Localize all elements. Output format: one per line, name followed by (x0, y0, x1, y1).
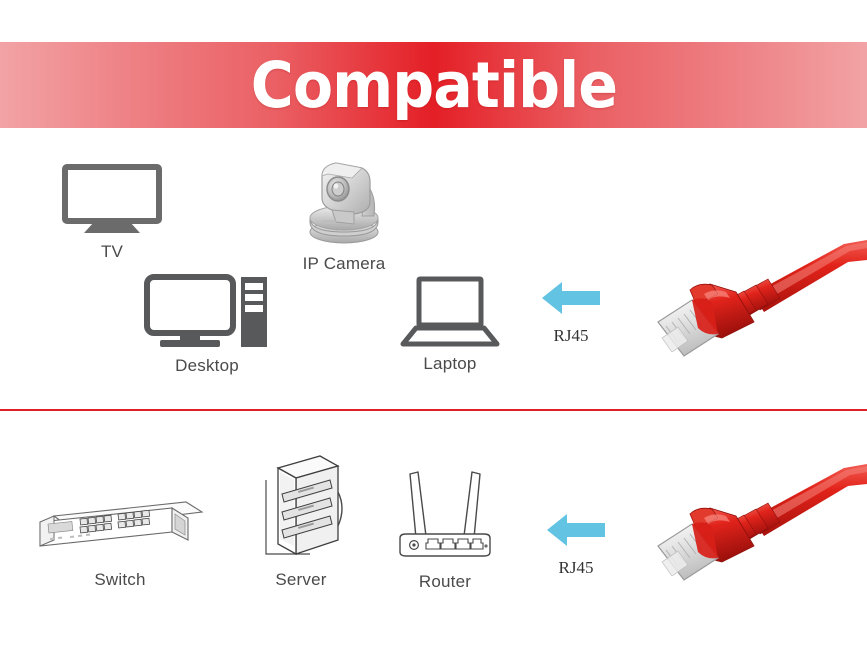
rj45-cable-icon (648, 238, 867, 360)
device-tv: TV (62, 164, 162, 262)
rj45-cable-icon-top (648, 238, 867, 360)
connector-label: RJ45 (559, 558, 594, 578)
page-title: Compatible (250, 54, 616, 117)
arrow-left-icon (545, 510, 607, 550)
device-label: IP Camera (303, 254, 386, 274)
network-switch-icon (36, 488, 204, 564)
arrow-left-icon (540, 278, 602, 318)
ip-camera-icon (296, 156, 392, 248)
device-ip-camera: IP Camera (296, 156, 392, 274)
connector-rj45-bottom: RJ45 (545, 510, 607, 578)
rj45-cable-icon (648, 458, 867, 588)
tv-icon (62, 164, 162, 236)
connector-rj45-top: RJ45 (540, 278, 602, 346)
connector-label: RJ45 (554, 326, 589, 346)
rj45-cable-icon-bottom (648, 458, 867, 588)
device-switch: Switch (36, 488, 204, 590)
device-label: Switch (94, 570, 145, 590)
header-banner: Compatible (0, 42, 867, 128)
device-label: Laptop (423, 354, 476, 374)
device-label: Server (275, 570, 326, 590)
server-rack-icon (258, 454, 344, 564)
desktop-icon (144, 274, 270, 350)
device-router: Router (392, 458, 498, 592)
device-label: Router (419, 572, 471, 592)
device-laptop: Laptop (400, 276, 500, 374)
laptop-icon (400, 276, 500, 348)
device-desktop: Desktop (144, 274, 270, 376)
section-divider (0, 409, 867, 411)
router-icon (392, 458, 498, 566)
device-server: Server (258, 454, 344, 590)
device-label: TV (101, 242, 123, 262)
device-label: Desktop (175, 356, 239, 376)
